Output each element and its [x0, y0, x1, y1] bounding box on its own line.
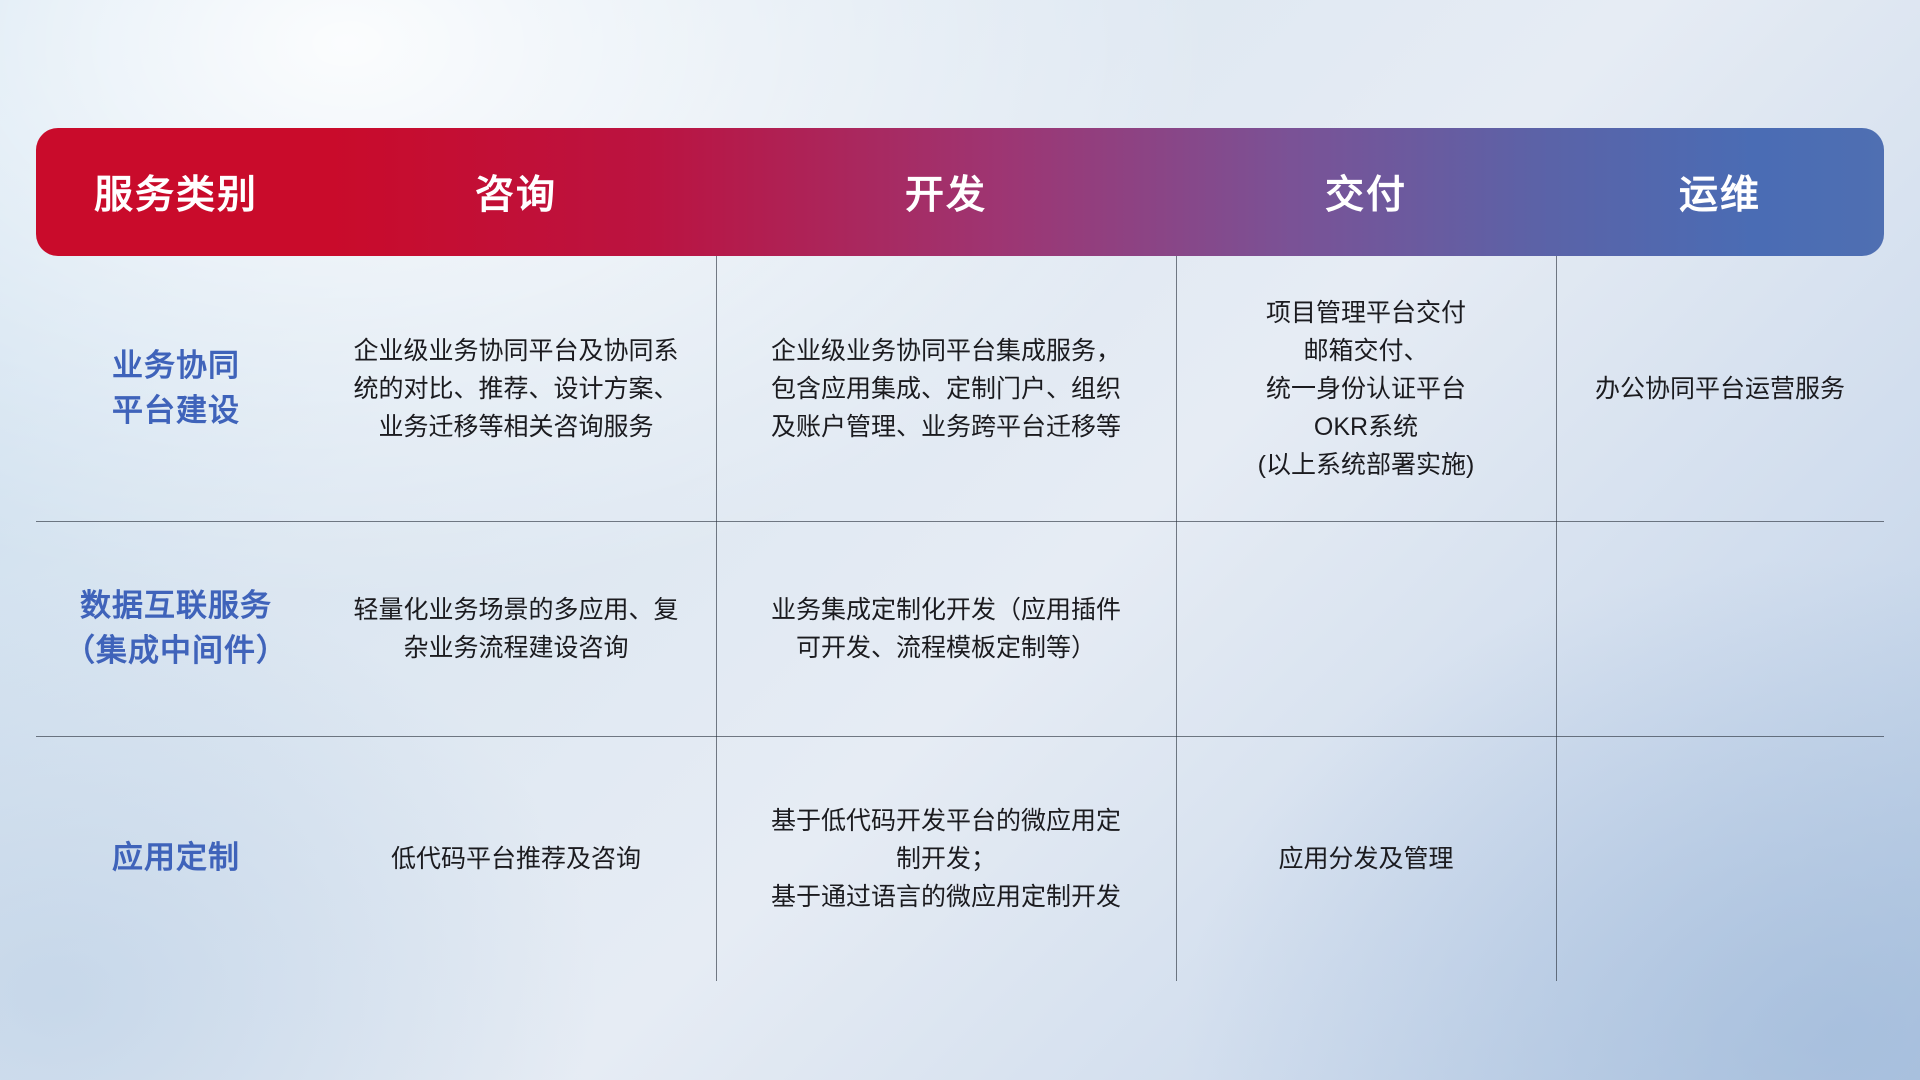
table-row: 应用定制 低代码平台推荐及咨询 基于低代码开发平台的微应用定 制开发； 基于通过… [36, 736, 1884, 981]
cell-development: 基于低代码开发平台的微应用定 制开发； 基于通过语言的微应用定制开发 [716, 736, 1176, 981]
row-category-label: 数据互联服务 （集成中间件） [36, 521, 316, 736]
column-header-operations[interactable]: 运维 [1556, 128, 1884, 256]
cell-operations [1556, 521, 1884, 736]
cell-delivery: 项目管理平台交付 邮箱交付、 统一身份认证平台 OKR系统 (以上系统部署实施) [1176, 256, 1556, 521]
cell-development: 业务集成定制化开发（应用插件 可开发、流程模板定制等） [716, 521, 1176, 736]
cell-consulting: 企业级业务协同平台及协同系 统的对比、推荐、设计方案、 业务迁移等相关咨询服务 [316, 256, 716, 521]
column-header-consulting[interactable]: 咨询 [316, 128, 716, 256]
cell-delivery: 应用分发及管理 [1176, 736, 1556, 981]
table-header-row: 服务类别 咨询 开发 交付 运维 [36, 128, 1884, 256]
cell-consulting: 低代码平台推荐及咨询 [316, 736, 716, 981]
cell-consulting: 轻量化业务场景的多应用、复 杂业务流程建设咨询 [316, 521, 716, 736]
slide-canvas: 服务类别 咨询 开发 交付 运维 业务协同 平台建设 企业级业务协同平台及协同系… [0, 0, 1920, 1080]
column-header-service-category[interactable]: 服务类别 [36, 128, 316, 256]
table-row: 业务协同 平台建设 企业级业务协同平台及协同系 统的对比、推荐、设计方案、 业务… [36, 256, 1884, 521]
service-matrix-table: 服务类别 咨询 开发 交付 运维 业务协同 平台建设 企业级业务协同平台及协同系… [36, 128, 1884, 981]
column-divider [716, 256, 717, 981]
cell-development: 企业级业务协同平台集成服务， 包含应用集成、定制门户、组织 及账户管理、业务跨平… [716, 256, 1176, 521]
column-header-delivery[interactable]: 交付 [1176, 128, 1556, 256]
column-divider [1556, 256, 1557, 981]
column-divider [1176, 256, 1177, 981]
row-divider [36, 521, 1884, 522]
cell-delivery [1176, 521, 1556, 736]
row-category-label: 业务协同 平台建设 [36, 256, 316, 521]
column-header-development[interactable]: 开发 [716, 128, 1176, 256]
table-row: 数据互联服务 （集成中间件） 轻量化业务场景的多应用、复 杂业务流程建设咨询 业… [36, 521, 1884, 736]
cell-operations: 办公协同平台运营服务 [1556, 256, 1884, 521]
table-body: 业务协同 平台建设 企业级业务协同平台及协同系 统的对比、推荐、设计方案、 业务… [36, 256, 1884, 981]
row-category-label: 应用定制 [36, 736, 316, 981]
cell-operations [1556, 736, 1884, 981]
row-divider [36, 736, 1884, 737]
